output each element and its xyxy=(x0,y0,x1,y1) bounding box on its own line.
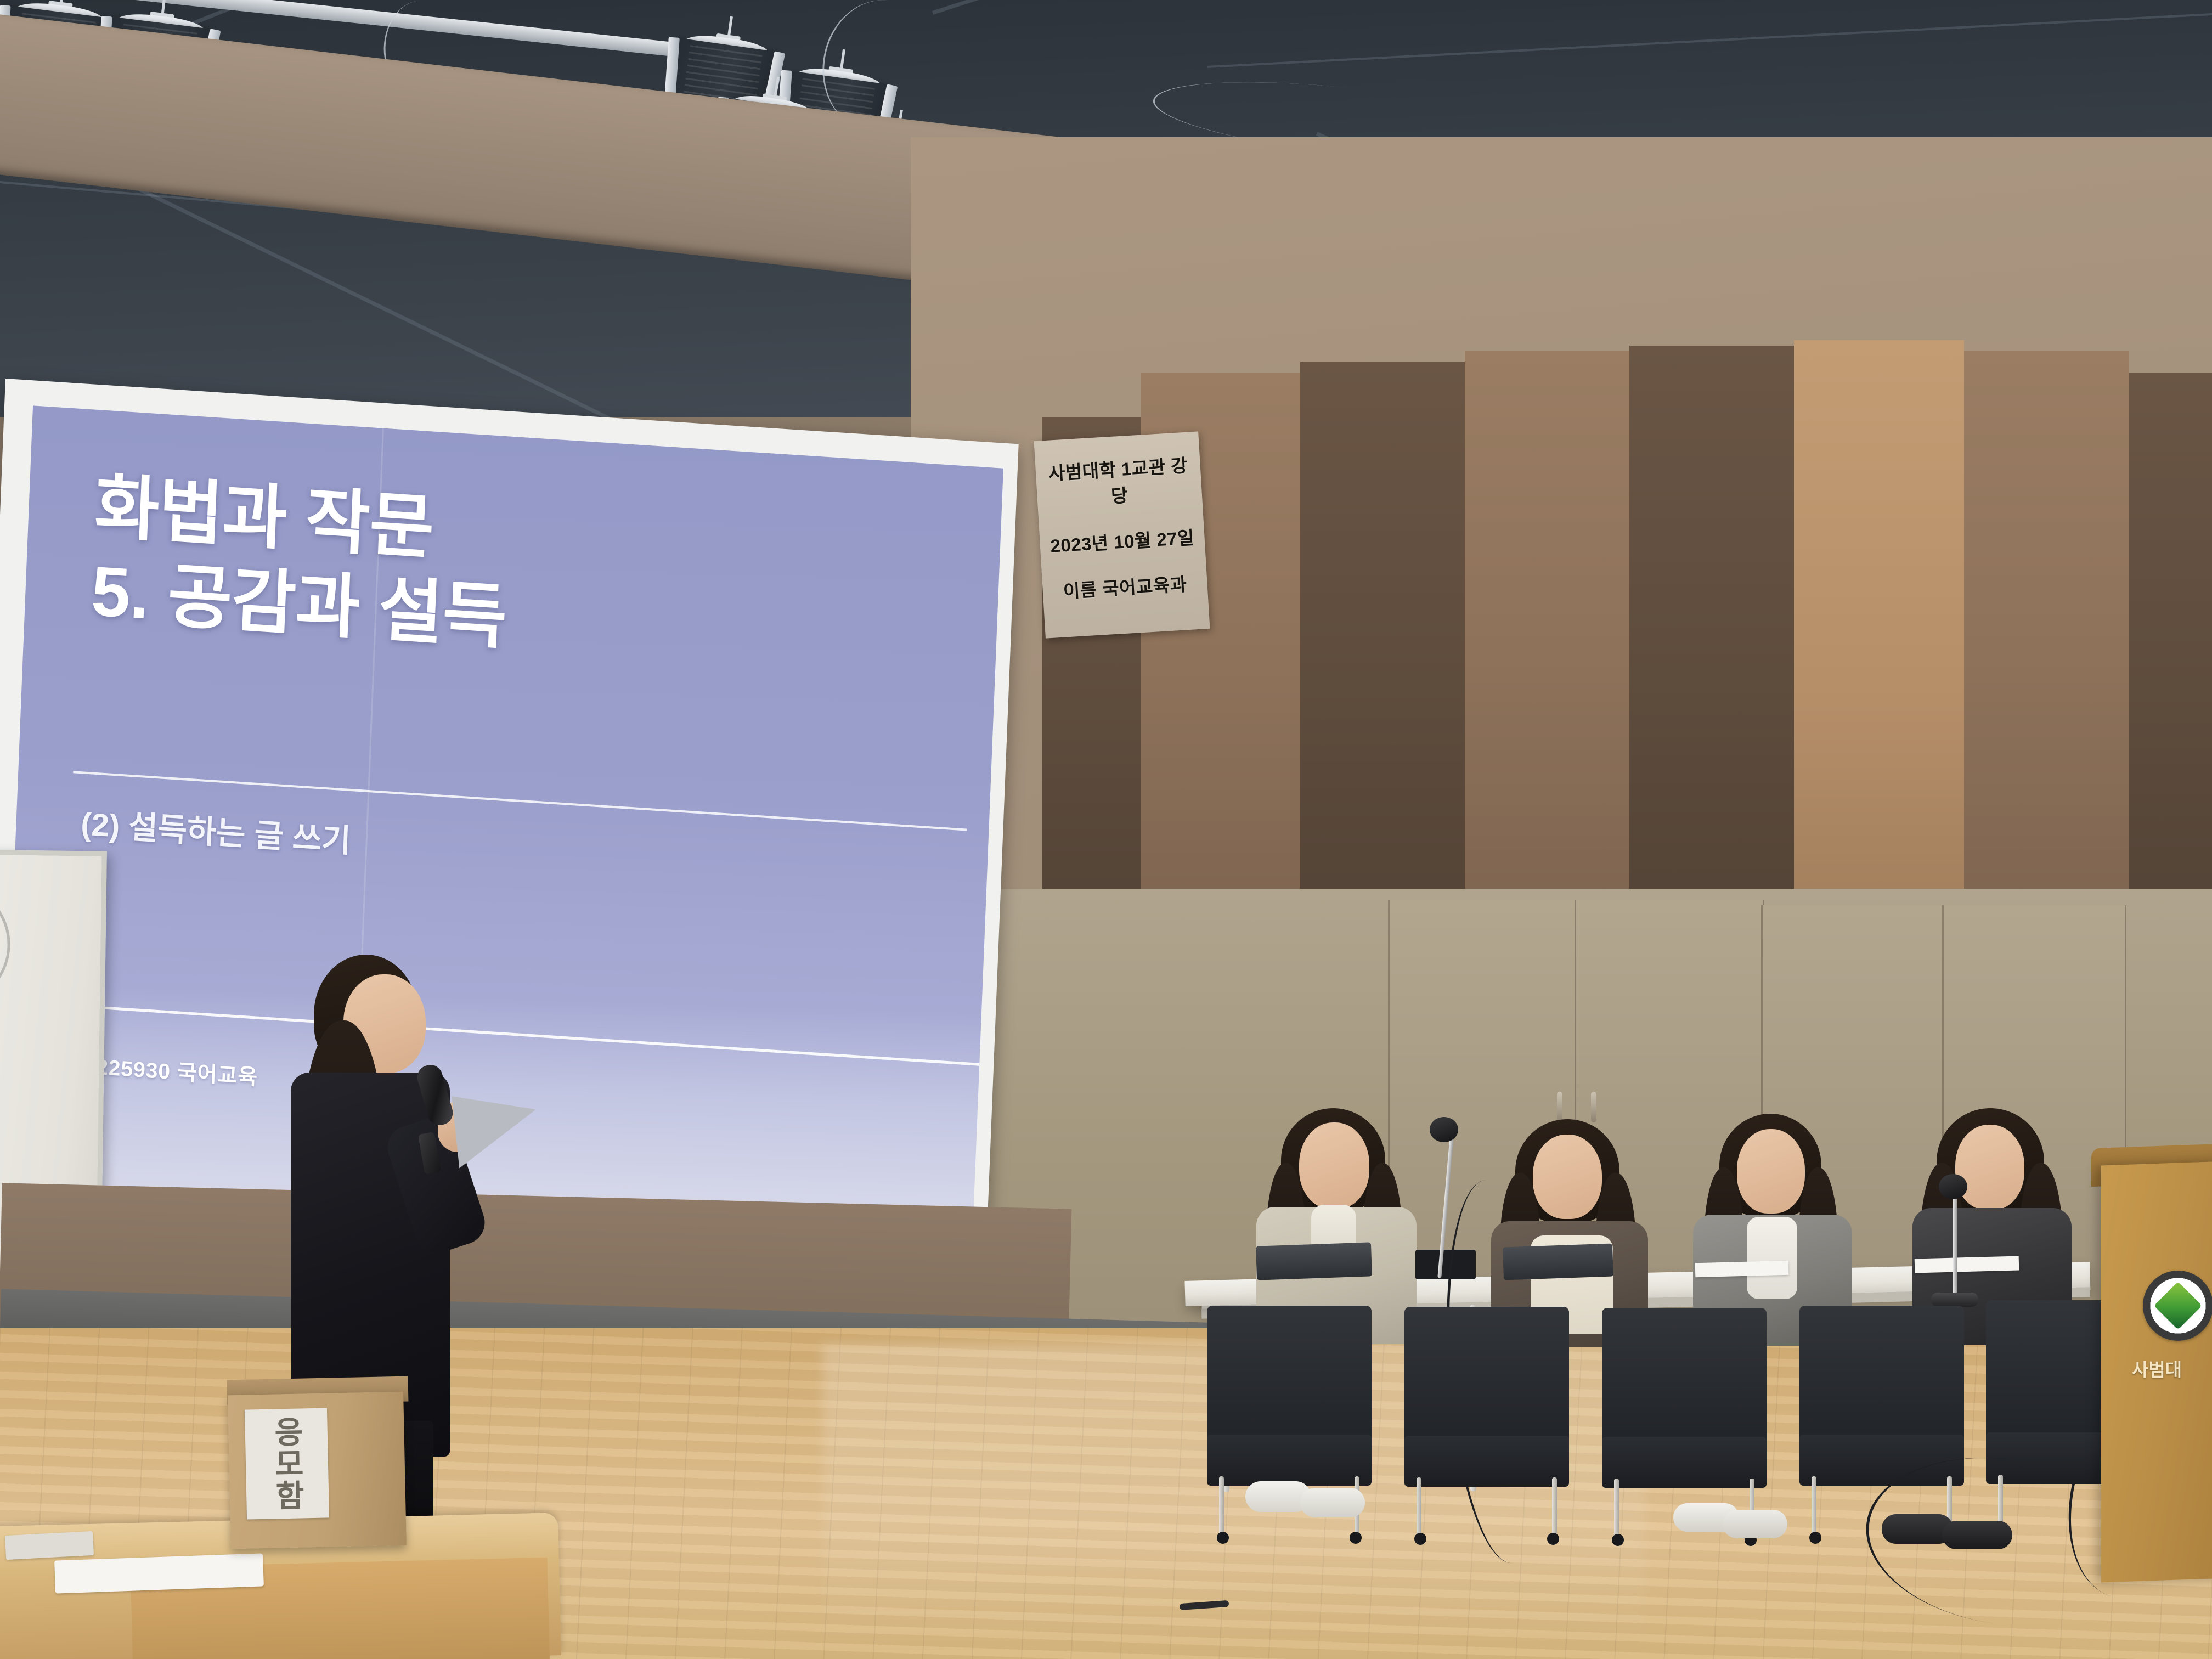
paper-sheet xyxy=(452,1088,541,1169)
whiteboard-drawn-circle xyxy=(0,882,11,1007)
slide-title: 화법과 작문 5. 공감과 설득 xyxy=(90,465,979,690)
microphone-stand[interactable] xyxy=(1953,1190,1957,1306)
wall-panel xyxy=(1964,351,2129,944)
paper-document xyxy=(1915,1256,2019,1273)
wall-panel xyxy=(2129,373,2212,944)
tablet-device[interactable] xyxy=(1256,1242,1372,1280)
slide-subtitle: (2) 설득하는 글 쓰기 xyxy=(80,798,352,861)
panelist-shoe xyxy=(1300,1488,1365,1517)
panelist-1 xyxy=(1251,1108,1421,1339)
panelist-turtleneck xyxy=(1747,1217,1797,1299)
banner-line-department: 이름 국어교육과 xyxy=(1047,569,1202,605)
wall-panel xyxy=(1465,351,1629,944)
panelist-head xyxy=(1533,1135,1602,1219)
banner-line-venue: 사범대학 1교관 강당 xyxy=(1041,450,1197,512)
entry-box-label-text: 응모함 xyxy=(270,1415,303,1511)
university-crest-icon xyxy=(2143,1271,2212,1341)
wall-panel xyxy=(1629,346,1794,944)
wall-panel xyxy=(1794,340,1964,944)
panelist-3 xyxy=(1690,1114,1854,1339)
door-handle-icon[interactable] xyxy=(1557,1092,1562,1122)
lecture-hall-photo: 사범대학 1교관 강당 2023년 10월 27일 이름 국어교육과 화법과 작… xyxy=(0,0,2212,1659)
microphone-head-icon[interactable] xyxy=(1939,1174,1967,1199)
paper-document xyxy=(1695,1261,1789,1277)
desk-paper xyxy=(5,1531,94,1560)
entry-box-label: 응모함 xyxy=(245,1408,329,1519)
banner-line-date: 2023년 10월 27일 xyxy=(1045,523,1199,558)
door-handle-icon[interactable] xyxy=(1591,1092,1596,1122)
microphone-head-icon[interactable] xyxy=(1430,1117,1458,1142)
event-banner: 사범대학 1교관 강당 2023년 10월 27일 이름 국어교육과 xyxy=(1034,431,1210,638)
podium-label: 사범대 xyxy=(2132,1355,2212,1381)
panelist-head xyxy=(1955,1125,2024,1210)
panelist-shoe xyxy=(1723,1510,1787,1538)
panelist-head xyxy=(1737,1129,1805,1214)
microphone-base xyxy=(1931,1293,1978,1307)
panelist-head xyxy=(1299,1122,1369,1209)
panel-chair[interactable] xyxy=(1404,1307,1569,1537)
wall-panel xyxy=(1300,362,1465,944)
